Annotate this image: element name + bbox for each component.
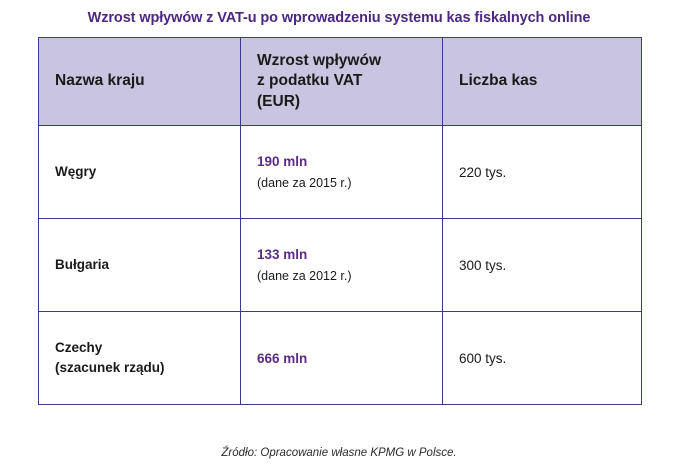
cell-vat-growth: 190 mln (dane za 2015 r.) xyxy=(241,126,443,219)
cell-country: Bułgaria xyxy=(39,219,241,312)
register-count-value: 220 tys. xyxy=(459,165,506,180)
vat-growth-amount: 666 mln xyxy=(257,351,426,366)
country-name-line1: Bułgaria xyxy=(55,255,224,275)
column-header-vat-growth-line2: z podatku VAT xyxy=(257,71,426,91)
register-count-value: 600 tys. xyxy=(459,351,506,366)
cell-country: Węgry xyxy=(39,126,241,219)
table-header-row: Nazwa kraju Wzrost wpływów z podatku VAT… xyxy=(39,38,642,126)
vat-growth-note: (dane za 2015 r.) xyxy=(257,176,426,190)
table-body: Węgry 190 mln (dane za 2015 r.) 220 tys.… xyxy=(39,126,642,405)
vat-growth-amount: 133 mln xyxy=(257,247,426,262)
cell-vat-growth: 666 mln xyxy=(241,312,443,405)
country-name-line2: (szacunek rządu) xyxy=(55,358,224,378)
cell-country: Czechy (szacunek rządu) xyxy=(39,312,241,405)
infographic-table-page: Wzrost wpływów z VAT-u po wprowadzeniu s… xyxy=(0,0,678,472)
column-header-country: Nazwa kraju xyxy=(39,38,241,126)
column-header-vat-growth-line3: (EUR) xyxy=(257,92,426,112)
table-row: Czechy (szacunek rządu) 666 mln 600 tys. xyxy=(39,312,642,405)
table-header: Nazwa kraju Wzrost wpływów z podatku VAT… xyxy=(39,38,642,126)
country-name-line1: Czechy xyxy=(55,338,224,358)
cell-register-count: 600 tys. xyxy=(443,312,642,405)
page-title: Wzrost wpływów z VAT-u po wprowadzeniu s… xyxy=(0,10,678,26)
column-header-vat-growth-line1: Wzrost wpływów xyxy=(257,51,426,71)
table-row: Węgry 190 mln (dane za 2015 r.) 220 tys. xyxy=(39,126,642,219)
cell-register-count: 220 tys. xyxy=(443,126,642,219)
table-row: Bułgaria 133 mln (dane za 2012 r.) 300 t… xyxy=(39,219,642,312)
column-header-vat-growth: Wzrost wpływów z podatku VAT (EUR) xyxy=(241,38,443,126)
column-header-register-count: Liczba kas xyxy=(443,38,642,126)
country-name-line1: Węgry xyxy=(55,162,224,182)
vat-growth-amount: 190 mln xyxy=(257,154,426,169)
cell-register-count: 300 tys. xyxy=(443,219,642,312)
cell-vat-growth: 133 mln (dane za 2012 r.) xyxy=(241,219,443,312)
vat-revenue-table: Nazwa kraju Wzrost wpływów z podatku VAT… xyxy=(38,37,642,405)
vat-growth-note: (dane za 2012 r.) xyxy=(257,269,426,283)
register-count-value: 300 tys. xyxy=(459,258,506,273)
source-caption: Źródło: Opracowanie własne KPMG w Polsce… xyxy=(0,447,678,459)
